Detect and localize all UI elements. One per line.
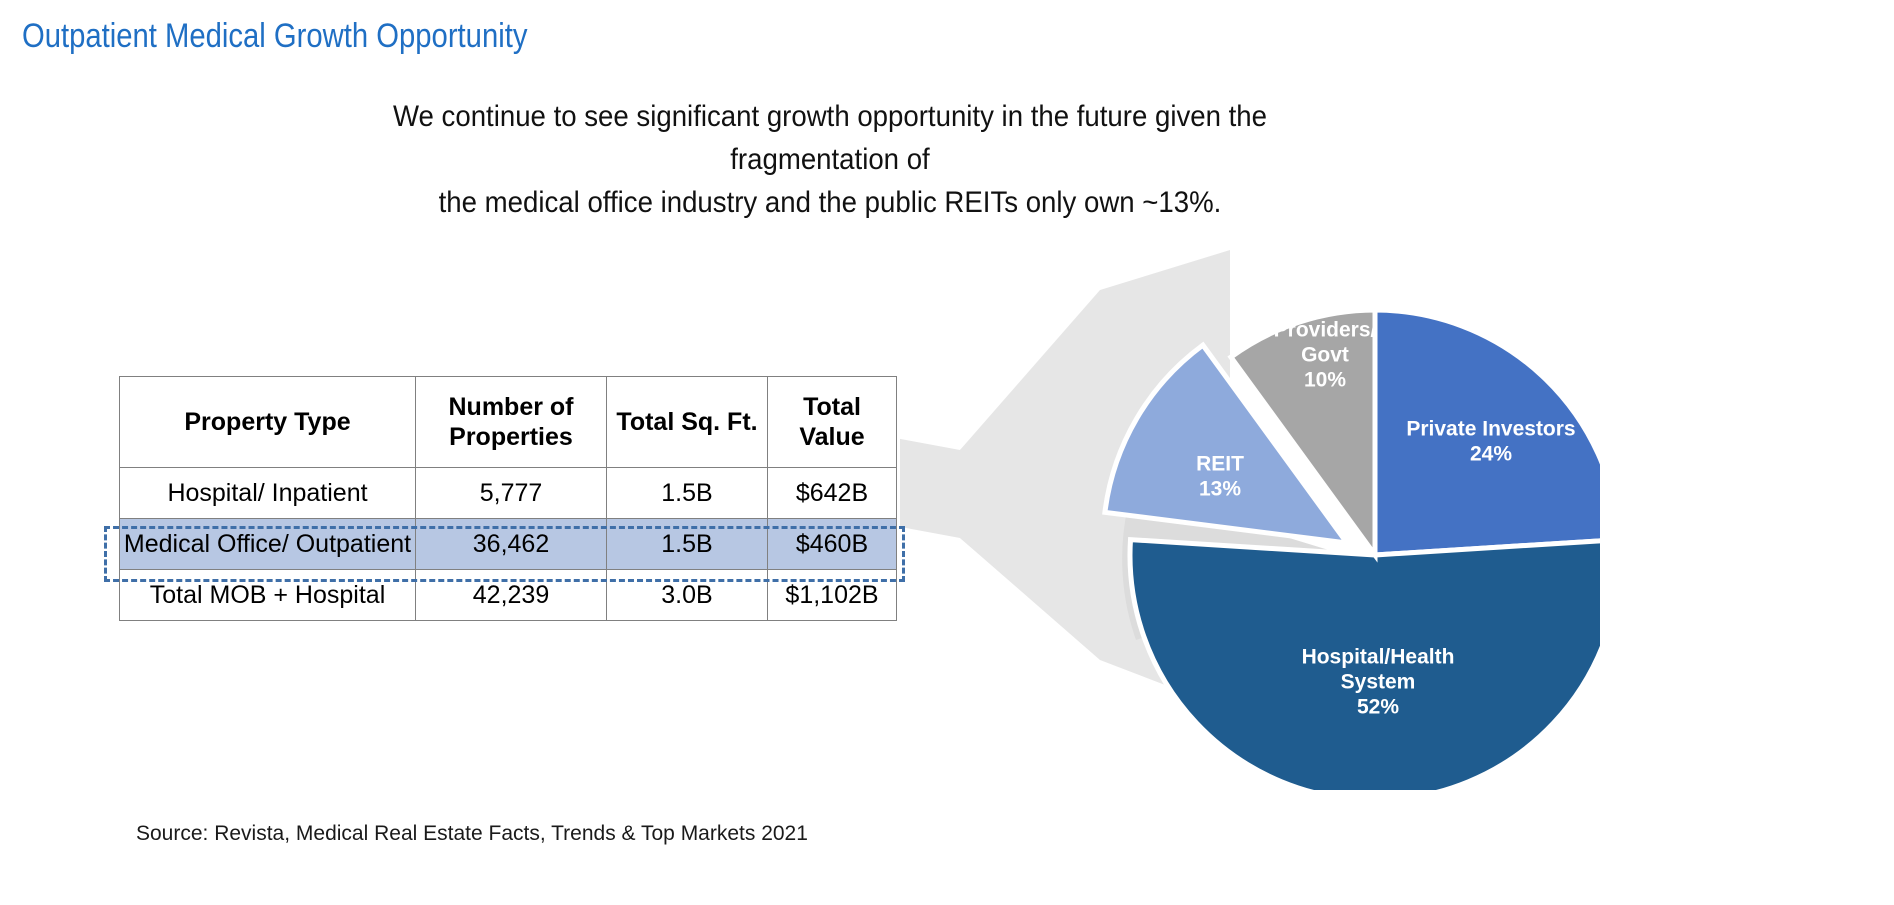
ownership-pie-chart: Private Investors 24% Hospital/Health Sy… [900, 190, 1600, 790]
cell-total-sq-ft: 1.5B [607, 468, 768, 519]
cell-total-value: $642B [768, 468, 897, 519]
cell-number-of-properties: 42,239 [416, 570, 607, 621]
cell-property-type: Total MOB + Hospital [120, 570, 416, 621]
table-header: Property Type Number of Properties Total… [120, 377, 897, 468]
cell-property-type: Medical Office/ Outpatient [120, 519, 416, 570]
pie-label-hospital-line2: System [1341, 671, 1416, 694]
pie-label-providers-line2: Govt [1301, 344, 1349, 367]
cell-total-value: $460B [768, 519, 897, 570]
slide-canvas: Outpatient Medical Growth Opportunity We… [0, 0, 1894, 905]
pie-label-private-investors-line1: Private Investors [1406, 418, 1575, 441]
pie-label-providers-line3: 10% [1304, 369, 1346, 392]
table-header-row: Property Type Number of Properties Total… [120, 377, 897, 468]
table-row-highlighted[interactable]: Medical Office/ Outpatient 36,462 1.5B $… [120, 519, 897, 570]
pie-label-private-investors-line2: 24% [1470, 443, 1512, 466]
property-type-table: Property Type Number of Properties Total… [119, 376, 897, 621]
cell-property-type: Hospital/ Inpatient [120, 468, 416, 519]
col-header-property-type: Property Type [120, 377, 416, 468]
col-header-number-of-properties: Number of Properties [416, 377, 607, 468]
cell-number-of-properties: 5,777 [416, 468, 607, 519]
col-header-total-sq-ft: Total Sq. Ft. [607, 377, 768, 468]
cell-total-sq-ft: 1.5B [607, 519, 768, 570]
table-row[interactable]: Total MOB + Hospital 42,239 3.0B $1,102B [120, 570, 897, 621]
pie-svg: Private Investors 24% Hospital/Health Sy… [900, 190, 1600, 790]
table-body: Hospital/ Inpatient 5,777 1.5B $642B Med… [120, 468, 897, 621]
col-header-total-value: Total Value [768, 377, 897, 468]
pie-label-reit-line2: 13% [1199, 478, 1241, 501]
cell-total-sq-ft: 3.0B [607, 570, 768, 621]
table-row[interactable]: Hospital/ Inpatient 5,777 1.5B $642B [120, 468, 897, 519]
source-note: Source: Revista, Medical Real Estate Fac… [136, 822, 808, 846]
pie-label-reit-line1: REIT [1196, 453, 1244, 476]
pie-label-hospital-line3: 52% [1357, 696, 1399, 719]
cell-total-value: $1,102B [768, 570, 897, 621]
pie-label-hospital-line1: Hospital/Health [1302, 646, 1455, 669]
subtitle-line-1: We continue to see significant growth op… [333, 95, 1327, 181]
cell-number-of-properties: 36,462 [416, 519, 607, 570]
pie-label-providers-line1: Providers/ [1274, 319, 1377, 342]
page-title: Outpatient Medical Growth Opportunity [22, 16, 527, 56]
